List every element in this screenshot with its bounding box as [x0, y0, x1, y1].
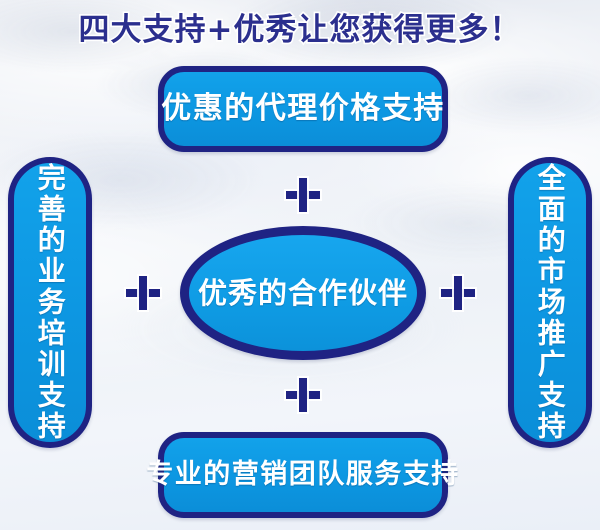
- promo-poster: 四大支持+优秀让您获得更多！ 优惠的代理价格支持 完善的业务培训支持 全面的市场…: [0, 0, 600, 530]
- plus-icon-bottom: [286, 378, 320, 412]
- support-node-right[interactable]: 全面的市场推广支持: [508, 157, 592, 448]
- support-node-top[interactable]: 优惠的代理价格支持: [158, 66, 448, 152]
- plus-icon-top: [286, 178, 320, 212]
- support-node-bottom[interactable]: 专业的营销团队服务支持: [158, 432, 448, 518]
- support-node-right-label: 全面的市场推广支持: [535, 163, 564, 442]
- plus-icon-right-vertical-bar: [454, 276, 462, 310]
- plus-icon-bottom-vertical-bar: [299, 378, 307, 412]
- support-node-top-label: 优惠的代理价格支持: [161, 93, 445, 125]
- plus-icon-top-vertical-bar: [299, 178, 307, 212]
- support-node-bottom-label: 专业的营销团队服务支持: [146, 461, 460, 489]
- plus-icon-right: [441, 276, 475, 310]
- plus-icon-left-vertical-bar: [139, 276, 147, 310]
- page-title-text: 四大支持+优秀让您获得更多！: [79, 4, 522, 49]
- center-node-partner[interactable]: 优秀的合作伙伴: [180, 226, 426, 360]
- center-node-label: 优秀的合作伙伴: [198, 278, 408, 308]
- page-title: 四大支持+优秀让您获得更多！: [0, 4, 600, 49]
- support-node-left-label: 完善的业务培训支持: [35, 163, 64, 442]
- support-node-left[interactable]: 完善的业务培训支持: [8, 157, 92, 448]
- plus-icon-left: [126, 276, 160, 310]
